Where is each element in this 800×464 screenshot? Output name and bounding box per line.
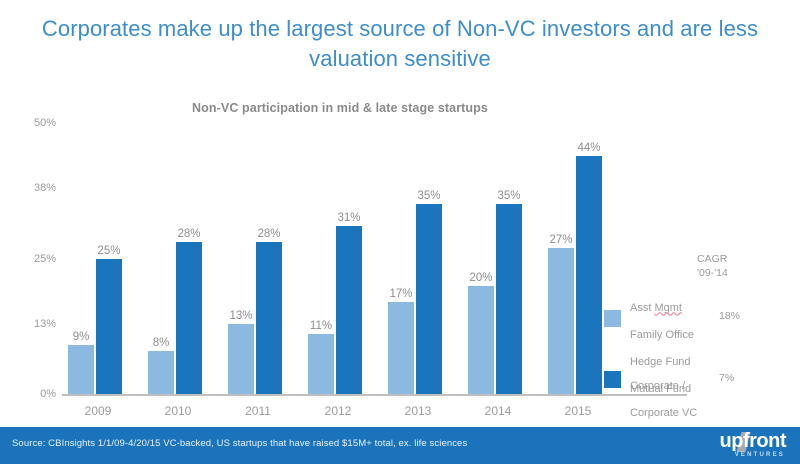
cagr-header: CAGR '09-'14: [697, 252, 728, 280]
bar-value-label: 35%: [417, 190, 440, 202]
bar-2014-series1[interactable]: 20%: [468, 286, 494, 394]
bar-value-label: 28%: [177, 228, 200, 240]
footer-band: Source: CBInsights 1/1/09-4/20/15 VC-bac…: [0, 427, 800, 464]
bar-group-2012: 11%31%: [302, 120, 374, 394]
legend-label-corp-line2: Corporate VC: [630, 407, 697, 421]
x-axis-label-2013: 2013: [382, 404, 454, 418]
bar-value-label: 20%: [469, 272, 492, 284]
bar-group-2009: 9%25%: [62, 120, 134, 394]
x-axis-label-2014: 2014: [462, 404, 534, 418]
x-axis-label-2010: 2010: [142, 404, 214, 418]
logo-wordmark: upfront: [720, 431, 786, 452]
logo-subtitle: VENTURES: [735, 452, 785, 458]
bar-value-label: 13%: [229, 310, 252, 322]
bar-2009-series2[interactable]: 25%: [96, 259, 122, 395]
source-note: Source: CBInsights 1/1/09-4/20/15 VC-bac…: [12, 438, 467, 449]
y-axis-tick: 50%: [10, 117, 56, 129]
bar-value-label: 11%: [310, 320, 332, 332]
bar-2012-series1[interactable]: 11%: [308, 334, 334, 394]
bar-value-label: 35%: [497, 190, 520, 202]
legend-label-line1: Asst Mgmt: [630, 302, 694, 316]
cagr-value-corporate: 7%: [719, 372, 734, 384]
bar-value-label: 25%: [97, 245, 120, 257]
legend-label-corp-line1: Corporate /: [630, 380, 697, 394]
y-axis: 50%38%25%13%0%: [0, 0, 56, 420]
cagr-value-asset-managers: 18%: [719, 310, 740, 322]
x-axis-label-2011: 2011: [222, 404, 294, 418]
bar-2009-series1[interactable]: 9%: [68, 345, 94, 394]
legend-label-asst: Asst: [630, 302, 654, 314]
legend-label-corporate: Corporate / Corporate VC: [630, 366, 697, 434]
legend-label-line2: Family Office: [630, 329, 694, 343]
bar-value-label: 17%: [389, 288, 412, 300]
x-axis-label-2015: 2015: [542, 404, 614, 418]
bar-value-label: 31%: [337, 212, 360, 224]
bar-2014-series2[interactable]: 35%: [496, 204, 522, 394]
bar-group-2014: 20%35%: [462, 120, 534, 394]
x-axis-label-2009: 2009: [62, 404, 134, 418]
bar-2010-series1[interactable]: 8%: [148, 351, 174, 394]
logo-word-text: upfront: [720, 430, 786, 452]
bar-value-label: 27%: [549, 234, 572, 246]
bar-2013-series2[interactable]: 35%: [416, 204, 442, 394]
bars-area: 9%25%8%28%13%28%11%31%17%35%20%35%27%44%: [62, 120, 622, 394]
y-axis-tick: 38%: [10, 182, 56, 194]
cagr-header-line1: CAGR: [697, 252, 728, 266]
bar-2015-series1[interactable]: 27%: [548, 248, 574, 394]
bar-2015-series2[interactable]: 44%: [576, 156, 602, 394]
cagr-header-line2: '09-'14: [697, 266, 728, 280]
bar-2010-series2[interactable]: 28%: [176, 242, 202, 394]
bar-group-2015: 27%44%: [542, 120, 614, 394]
bar-value-label: 44%: [577, 142, 600, 154]
bar-group-2011: 13%28%: [222, 120, 294, 394]
legend-swatch-dark-blue: [604, 371, 621, 388]
bar-value-label: 9%: [73, 331, 90, 343]
x-axis-label-2012: 2012: [302, 404, 374, 418]
slide-canvas: Corporates make up the largest source of…: [0, 0, 800, 464]
bar-2013-series1[interactable]: 17%: [388, 302, 414, 394]
y-axis-tick: 13%: [10, 318, 56, 330]
bar-2012-series2[interactable]: 31%: [336, 226, 362, 394]
legend-swatch-light-blue: [604, 310, 621, 327]
bar-value-label: 28%: [257, 228, 280, 240]
y-axis-tick: 25%: [10, 253, 56, 265]
bar-2011-series2[interactable]: 28%: [256, 242, 282, 394]
legend-label-mgmt-misspelled: Mgmt: [654, 302, 682, 314]
x-axis-line: [62, 394, 687, 396]
bar-group-2013: 17%35%: [382, 120, 454, 394]
bar-value-label: 8%: [153, 337, 170, 349]
y-axis-tick: 0%: [10, 388, 56, 400]
upfront-ventures-logo: upfront VENTURES: [690, 431, 786, 461]
bar-group-2010: 8%28%: [142, 120, 214, 394]
bar-2011-series1[interactable]: 13%: [228, 324, 254, 394]
